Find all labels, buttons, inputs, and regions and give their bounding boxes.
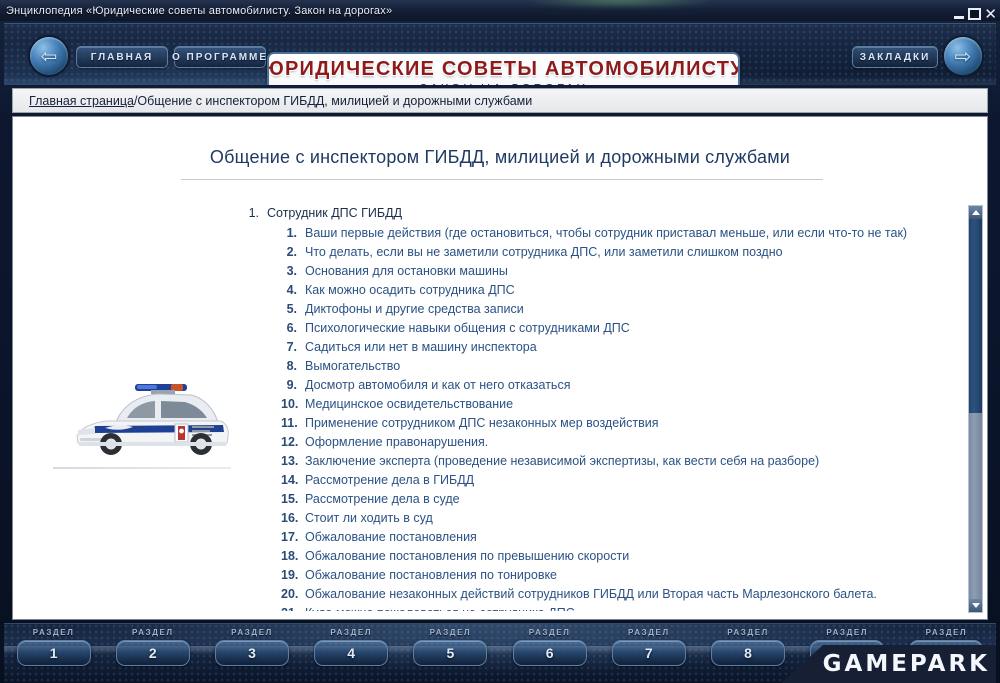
section-button-face[interactable]: 3 [215,640,289,666]
topic-link-label[interactable]: Садиться или нет в машину инспектора [305,339,537,355]
section-button-number: 2 [149,645,157,661]
topic-link-item[interactable]: 9.Досмотр автомобиля и как от него отказ… [281,377,961,393]
section-button-face[interactable]: 1 [17,640,91,666]
breadcrumb-home-link[interactable]: Главная страница [29,94,134,108]
topic-number: 1. [281,225,305,241]
illustration-divider [53,467,231,469]
topic-link-label[interactable]: Основания для остановки машины [305,263,508,279]
topic-link-item[interactable]: 14.Рассмотрение дела в ГИБДД [281,472,961,488]
topic-link-item[interactable]: 8.Вымогательство [281,358,961,374]
topic-link-item[interactable]: 16.Стоит ли ходить в суд [281,510,961,526]
scrollbar-thumb[interactable] [969,219,982,413]
topic-number: 11. [281,415,305,431]
topic-link-label[interactable]: Медицинское освидетельствование [305,396,513,412]
topic-link-label[interactable]: Применение сотрудником ДПС незаконных ме… [305,415,659,431]
section-button-number: 6 [546,645,554,661]
section-button-caption: РАЗДЕЛ [628,628,670,637]
application-window: Энциклопедия «Юридические советы автомоб… [0,0,1000,683]
topic-link-item[interactable]: 18.Обжалование постановления по превышен… [281,548,961,564]
topic-link-label[interactable]: Как можно осадить сотрудника ДПС [305,282,515,298]
topic-link-item[interactable]: 15.Рассмотрение дела в суде [281,491,961,507]
breadcrumb-current: Общение с инспектором ГИБДД, милицией и … [137,94,532,108]
section-button-5[interactable]: РАЗДЕЛ5 [401,624,500,683]
section-button-caption: РАЗДЕЛ [330,628,372,637]
section-button-number: 1 [50,645,58,661]
topic-number: 14. [281,472,305,488]
nav-about-button[interactable]: О ПРОГРАММЕ [174,46,266,68]
topic-number: 3. [281,263,305,279]
section-button-face[interactable]: 7 [612,640,686,666]
footer-bar: РАЗДЕЛ1РАЗДЕЛ2РАЗДЕЛ3РАЗДЕЛ4РАЗДЕЛ5РАЗДЕ… [4,623,996,683]
topic-link-label[interactable]: Обжалование постановления по тонировке [305,567,557,583]
topic-number: 8. [281,358,305,374]
section-list: 1. Сотрудник ДПС ГИБДД 1.Ваши первые дей… [241,205,961,611]
header-bar: ⇦ ГЛАВНАЯ О ПРОГРАММЕ ЮРИДИЧЕСКИЕ СОВЕТЫ… [4,23,996,85]
topic-number: 5. [281,301,305,317]
nav-about-label: О ПРОГРАММЕ [172,52,268,63]
section-button-caption: РАЗДЕЛ [132,628,174,637]
section-button-caption: РАЗДЕЛ [727,628,769,637]
topic-link-label[interactable]: Вымогательство [305,358,400,374]
topic-number: 20. [281,586,305,602]
section-button-number: 3 [248,645,256,661]
section-button-1[interactable]: РАЗДЕЛ1 [4,624,103,683]
topic-number: 2. [281,244,305,260]
topic-number: 10. [281,396,305,412]
topic-link-label[interactable]: Обжалование незаконных действий сотрудни… [305,586,877,602]
topic-number: 17. [281,529,305,545]
topic-number: 9. [281,377,305,393]
topic-link-item[interactable]: 11.Применение сотрудником ДПС незаконных… [281,415,961,431]
topic-link-label[interactable]: Рассмотрение дела в суде [305,491,460,507]
section-button-3[interactable]: РАЗДЕЛ3 [202,624,301,683]
section-button-6[interactable]: РАЗДЕЛ6 [500,624,599,683]
section-button-8[interactable]: РАЗДЕЛ8 [698,624,797,683]
vertical-scrollbar[interactable] [968,205,983,613]
section-list-item: 1. Сотрудник ДПС ГИБДД 1.Ваши первые дей… [241,205,961,611]
topic-link-item[interactable]: 17.Обжалование постановления [281,529,961,545]
topic-link-item[interactable]: 13.Заключение эксперта (проведение незав… [281,453,961,469]
close-icon[interactable]: ✕ [984,9,997,20]
window-controls: ✕ [953,1,997,20]
forward-arrow-icon[interactable]: ⇨ [944,37,982,75]
watermark-text: GAMEPARK [823,651,990,677]
topic-link-item[interactable]: 19.Обжалование постановления по тонировк… [281,567,961,583]
section-button-7[interactable]: РАЗДЕЛ7 [599,624,698,683]
back-arrow-icon[interactable]: ⇦ [30,37,68,75]
topic-link-label[interactable]: Обжалование постановления [305,529,477,545]
topic-link-item[interactable]: 12.Оформление правонарушения. [281,434,961,450]
section-button-face[interactable]: 8 [711,640,785,666]
topic-number: 21. [281,605,305,611]
topic-link-label[interactable]: Что делать, если вы не заметили сотрудни… [305,244,783,260]
section-button-face[interactable]: 6 [513,640,587,666]
topic-link-item[interactable]: 4.Как можно осадить сотрудника ДПС [281,282,961,298]
forward-arrow-glyph: ⇨ [955,46,972,66]
section-button-caption: РАЗДЕЛ [826,628,868,637]
scroll-down-icon[interactable] [969,599,982,612]
section-number: 1. [241,205,267,221]
bookmarks-button[interactable]: ЗАКЛАДКИ [852,46,938,68]
topic-link-label[interactable]: Рассмотрение дела в ГИБДД [305,472,474,488]
topic-link-item[interactable]: 2.Что делать, если вы не заметили сотруд… [281,244,961,260]
section-button-4[interactable]: РАЗДЕЛ4 [302,624,401,683]
topic-link-label[interactable]: Обжалование постановления по превышению … [305,548,629,564]
topic-number: 4. [281,282,305,298]
section-button-face[interactable]: 4 [314,640,388,666]
scrollbar-track[interactable] [969,413,982,599]
topic-number: 13. [281,453,305,469]
topic-number: 18. [281,548,305,564]
topic-link-item[interactable]: 5.Диктофоны и другие средства записи [281,301,961,317]
topic-link-label[interactable]: Стоит ли ходить в суд [305,510,433,526]
banner-title: ЮРИДИЧЕСКИЕ СОВЕТЫ АВТОМОБИЛИСТУ [267,58,740,80]
section-button-number: 5 [447,645,455,661]
section-button-number: 7 [645,645,653,661]
section-button-number: 4 [347,645,355,661]
topic-link-item[interactable]: 10.Медицинское освидетельствование [281,396,961,412]
topic-list: 1. Сотрудник ДПС ГИБДД 1.Ваши первые дей… [241,205,961,611]
window-title: Энциклопедия «Юридические советы автомоб… [0,5,392,17]
content-panel: Общение с инспектором ГИБДД, милицией и … [12,116,988,620]
topic-link-item[interactable]: 20.Обжалование незаконных действий сотру… [281,586,961,602]
topic-link-label[interactable]: Досмотр автомобиля и как от него отказат… [305,377,570,393]
section-label: Сотрудник ДПС ГИБДД [267,205,402,221]
minimize-icon[interactable] [953,9,965,20]
topic-link-item[interactable]: 6.Психологические навыки общения с сотру… [281,320,961,336]
topic-sublist: 1.Ваши первые действия (где остановиться… [281,225,961,611]
section-button-face[interactable]: 5 [413,640,487,666]
section-button-caption: РАЗДЕЛ [33,628,75,637]
topic-link-label[interactable]: Ваши первые действия (где остановиться, … [305,225,907,241]
topic-link-item[interactable]: 3.Основания для остановки машины [281,263,961,279]
section-button-caption: РАЗДЕЛ [529,628,571,637]
nav-home-button[interactable]: ГЛАВНАЯ [76,46,168,68]
section-button-caption: РАЗДЕЛ [430,628,472,637]
topic-number: 16. [281,510,305,526]
breadcrumb: Главная страница / Общение с инспектором… [12,88,988,113]
title-bar: Энциклопедия «Юридические советы автомоб… [0,0,1000,21]
section-button-caption: РАЗДЕЛ [231,628,273,637]
topic-link-label[interactable]: Психологические навыки общения с сотрудн… [305,320,630,336]
title-divider [181,179,823,180]
topic-link-label[interactable]: Оформление правонарушения. [305,434,488,450]
scroll-up-icon[interactable] [969,206,982,219]
page-title: Общение с инспектором ГИБДД, милицией и … [13,147,987,168]
back-arrow-glyph: ⇦ [41,46,58,66]
topic-number: 6. [281,320,305,336]
section-button-number: 8 [744,645,752,661]
section-button-caption: РАЗДЕЛ [926,628,968,637]
titlebar-glow [520,0,720,8]
nav-home-label: ГЛАВНАЯ [91,52,154,63]
topic-link-item[interactable]: 21.Куда можно пожаловаться на сотрудника… [281,605,961,611]
topic-number: 7. [281,339,305,355]
topic-link-item[interactable]: 7.Садиться или нет в машину инспектора [281,339,961,355]
section-button-face[interactable]: 2 [116,640,190,666]
maximize-icon[interactable] [968,8,981,20]
banner-subtitle: ЗАКОН НА ДОРОГАХ [419,81,587,85]
topic-link-label[interactable]: Куда можно пожаловаться на сотрудника ДП… [305,605,575,611]
police-car-image [51,362,231,467]
topic-number: 12. [281,434,305,450]
program-banner: ЮРИДИЧЕСКИЕ СОВЕТЫ АВТОМОБИЛИСТУ ЗАКОН Н… [267,52,740,85]
topic-link-item[interactable]: 1.Ваши первые действия (где остановиться… [281,225,961,241]
section-button-2[interactable]: РАЗДЕЛ2 [103,624,202,683]
topic-link-label[interactable]: Диктофоны и другие средства записи [305,301,524,317]
topic-link-label[interactable]: Заключение эксперта (проведение независи… [305,453,819,469]
topic-number: 15. [281,491,305,507]
bookmarks-label: ЗАКЛАДКИ [860,52,931,63]
topic-number: 19. [281,567,305,583]
